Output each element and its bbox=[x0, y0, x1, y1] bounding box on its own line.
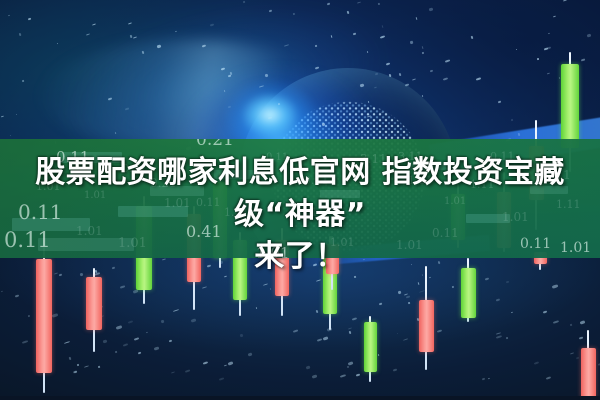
candlestick bbox=[364, 316, 377, 382]
light-particle bbox=[398, 73, 401, 76]
candle-body bbox=[419, 300, 434, 352]
page-title: 股票配资哪家利息低官网 指数投资宝藏级“神器” 来了！ bbox=[0, 152, 600, 278]
candle-body bbox=[86, 277, 102, 330]
light-particle bbox=[103, 339, 107, 343]
light-particle bbox=[510, 119, 512, 121]
bottom-edge bbox=[0, 396, 600, 400]
headline-line-1: 股票配资哪家利息低官网 指数投资宝藏级“神器” bbox=[0, 152, 600, 236]
candlestick bbox=[86, 268, 102, 352]
light-particle bbox=[156, 44, 160, 48]
candlestick bbox=[419, 266, 434, 370]
candle-body bbox=[581, 348, 596, 398]
floating-number: 0.21 bbox=[196, 139, 234, 150]
banner-image: 0.110.110.211.111.113.111.011.010.110.11… bbox=[0, 0, 600, 400]
candle-body bbox=[561, 64, 579, 148]
candle-body bbox=[364, 322, 377, 372]
headline-line-2: 来了！ bbox=[0, 236, 600, 278]
light-particle bbox=[346, 366, 348, 368]
light-particle bbox=[18, 33, 21, 36]
light-particle bbox=[160, 319, 164, 322]
candlestick bbox=[581, 330, 596, 400]
light-particle bbox=[229, 72, 232, 75]
light-particle bbox=[321, 122, 325, 126]
light-particle bbox=[314, 66, 318, 69]
light-particle bbox=[326, 2, 329, 5]
